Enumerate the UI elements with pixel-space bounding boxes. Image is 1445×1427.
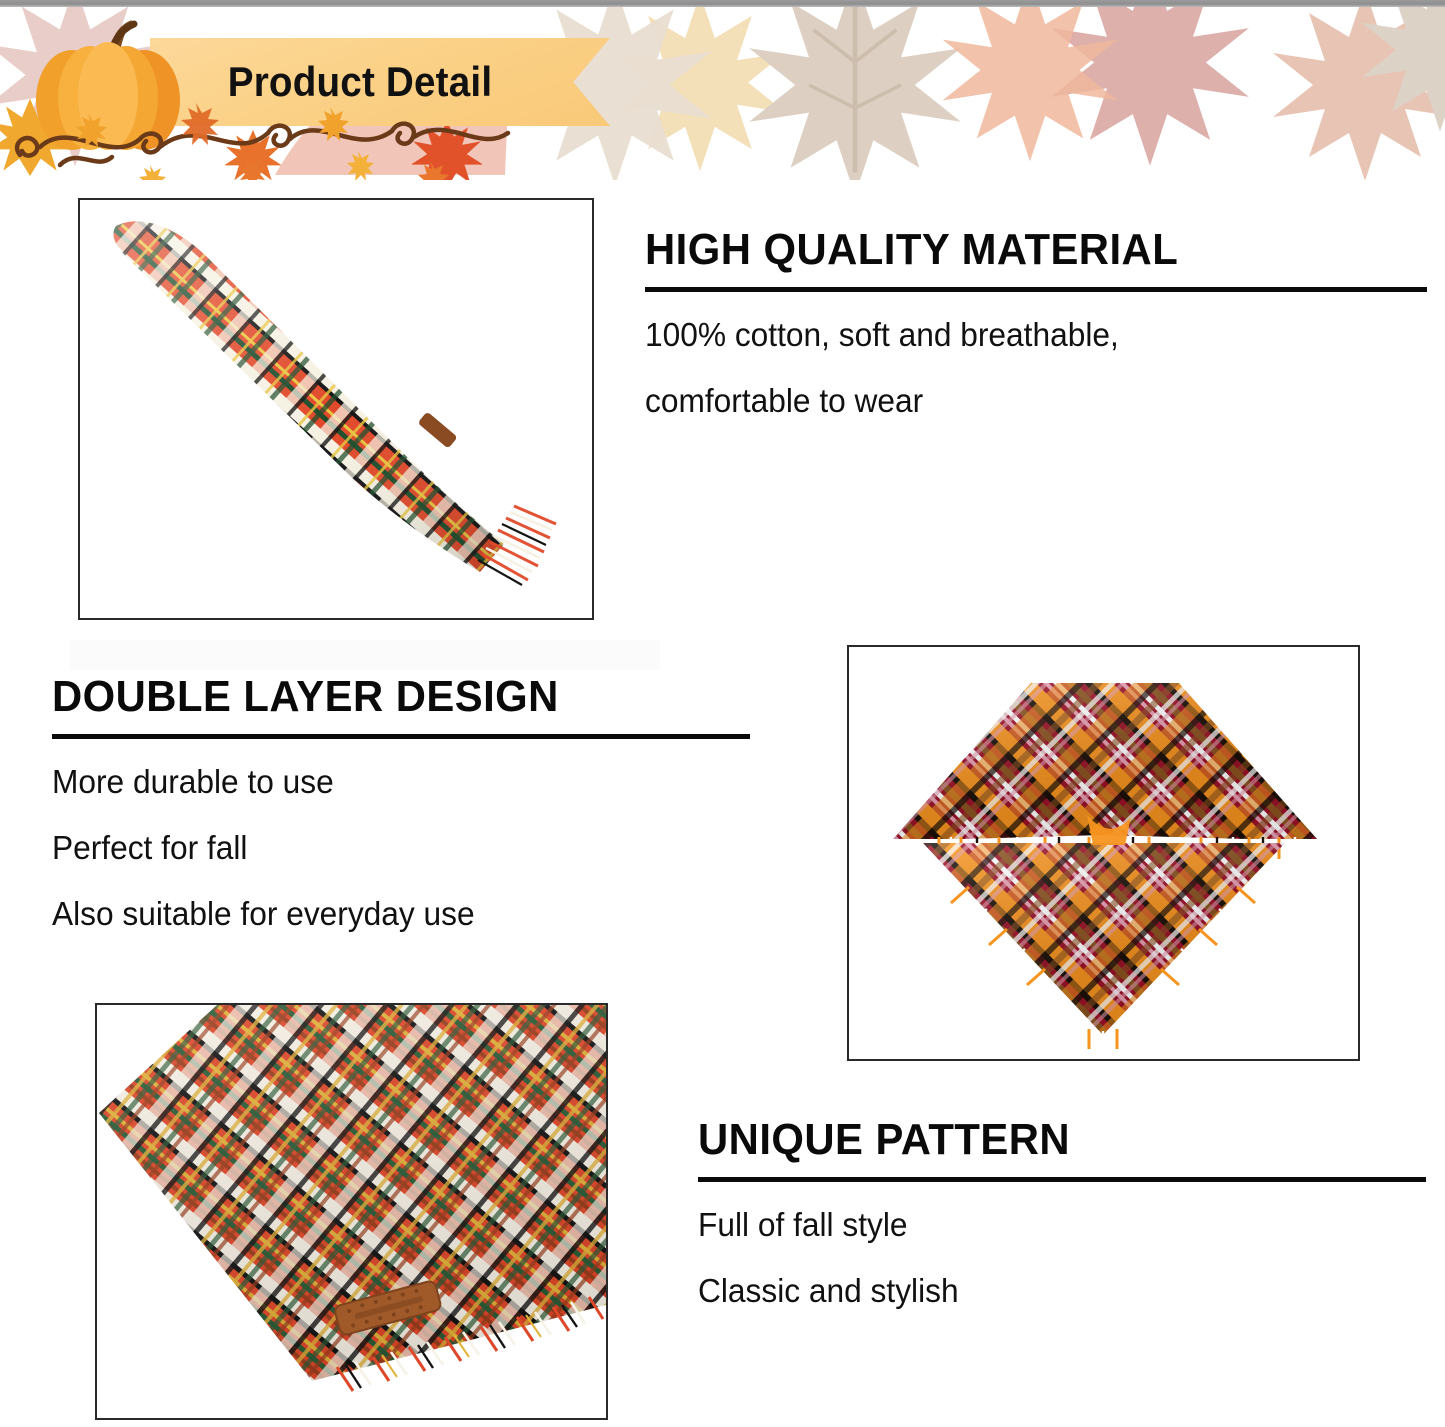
product-detail-page: Product Detail (0, 0, 1445, 1427)
heading-underline (52, 734, 750, 739)
feature-line: 100% cotton, soft and breathable, (645, 318, 1396, 351)
autumn-header-banner: Product Detail (0, 0, 1445, 180)
heading-underline (698, 1177, 1426, 1182)
feature-double-layer-design: DOUBLE LAYER DESIGN More durable to use … (52, 675, 750, 930)
feature-lines: 100% cotton, soft and breathable, comfor… (645, 318, 1427, 417)
photo-canvas (97, 1005, 606, 1418)
feature-heading: HIGH QUALITY MATERIAL (645, 228, 1388, 273)
rolled-plaid-bandana-photo[interactable] (78, 198, 594, 620)
heading-underline (645, 287, 1427, 292)
top-divider-rule (0, 0, 1445, 7)
feature-line: Also suitable for everyday use (52, 897, 722, 930)
feature-unique-pattern: UNIQUE PATTERN Full of fall style Classi… (698, 1118, 1426, 1307)
photo-shadow (70, 640, 660, 670)
photo-canvas (80, 200, 592, 618)
folded-triangle-bandana-photo[interactable] (847, 645, 1360, 1061)
feature-line: Classic and stylish (698, 1274, 1397, 1307)
feature-line: More durable to use (52, 765, 722, 798)
photo-canvas (849, 647, 1358, 1059)
feature-lines: More durable to use Perfect for fall Als… (52, 765, 750, 930)
feature-heading: UNIQUE PATTERN (698, 1118, 1390, 1163)
feature-lines: Full of fall style Classic and stylish (698, 1208, 1426, 1307)
feature-line: comfortable to wear (645, 384, 1396, 417)
feature-high-quality-material: HIGH QUALITY MATERIAL 100% cotton, soft … (645, 228, 1427, 417)
flat-plaid-bandana-photo[interactable] (95, 1003, 608, 1420)
maple-leaf-icon (900, 0, 1160, 165)
feature-line: Full of fall style (698, 1208, 1397, 1241)
feature-line: Perfect for fall (52, 831, 722, 864)
feature-heading: DOUBLE LAYER DESIGN (52, 675, 715, 720)
maple-leaf-icon (1340, 0, 1445, 135)
swirl-vine-icon (0, 95, 520, 180)
